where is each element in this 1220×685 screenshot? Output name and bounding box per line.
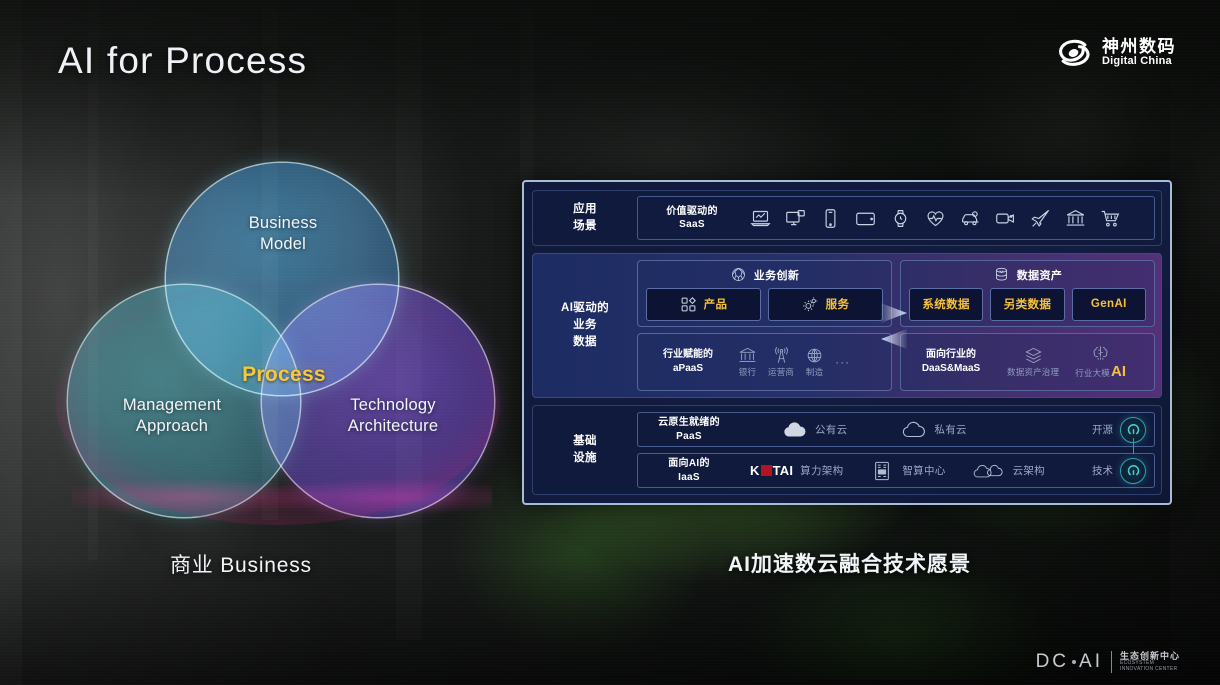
sub-head-label: 数据资产 <box>1017 267 1063 283</box>
footer-divider <box>1111 651 1112 673</box>
panel-row-application-scenarios: 应用 场景 价值驱动的 SaaS <box>532 190 1162 246</box>
venn-diagram: Business Model Management Approach Techn… <box>62 163 462 523</box>
smartwatch-icon <box>890 208 911 229</box>
shopping-cart-icon <box>1100 208 1121 229</box>
architecture-panel: 应用 场景 价值驱动的 SaaS <box>522 180 1172 505</box>
desktop-monitor-icon <box>785 208 806 229</box>
brand-name-en: Digital China <box>1102 56 1176 68</box>
ai-accent-text: AI <box>1111 363 1126 380</box>
venn-label-line: Architecture <box>302 416 484 437</box>
ai-datacenter-icon: AI <box>869 461 895 481</box>
badge-opensource: 开源 <box>1092 417 1146 443</box>
chip-alternative-data[interactable]: 另类数据 <box>990 288 1064 321</box>
item-ai-compute-center: AI 智算中心 <box>869 461 945 481</box>
footer-dot-icon <box>1072 660 1076 664</box>
venn-label-line: Approach <box>82 416 262 437</box>
saas-tag-line: SaaS <box>648 218 736 232</box>
multi-cloud-icon <box>972 461 1006 481</box>
daas-maas-tag-line: DaaS&MaaS <box>909 362 993 376</box>
item-cloud-architecture: 云架构 <box>972 461 1045 481</box>
caption-ai-vision: AI加速数云融合技术愿景 <box>728 548 971 578</box>
grid-blocks-icon <box>680 296 697 313</box>
daas-maas-tag-line: 面向行业的 <box>909 348 993 362</box>
footer-dc-ai-text: DC AI <box>1036 651 1103 673</box>
heartbeat-icon <box>925 208 946 229</box>
car-icon <box>960 208 981 229</box>
row-body-application-scenarios: 价值驱动的 SaaS <box>637 191 1161 245</box>
row-label-line: 基础 <box>573 433 597 450</box>
item-kutai-compute: K TAI 算力架构 <box>750 463 843 478</box>
apaas-industry-items: 银行 运营商 制造 ··· <box>738 346 850 378</box>
slide-root: AI for Process 神州数码 Digital China Busine… <box>0 0 1220 685</box>
feat-row-daas-maas: 面向行业的 DaaS&MaaS 数据资产治理 <box>909 343 1146 380</box>
item-label: 云架构 <box>1013 463 1045 478</box>
chip-label: 另类数据 <box>1004 296 1052 312</box>
kutai-brand-logo: K TAI <box>750 463 793 478</box>
opensource-circle-icon <box>1120 458 1146 484</box>
chip-service[interactable]: 服务 <box>768 288 883 321</box>
feat-data-governance: 数据资产治理 <box>1007 346 1059 378</box>
caption-business: 商业 Business <box>170 549 312 579</box>
footer-ai: AI <box>1079 651 1103 673</box>
venn-label-business-model: Business Model <box>212 213 354 255</box>
chip-product[interactable]: 产品 <box>646 288 761 321</box>
venn-label-process: Process <box>210 363 358 387</box>
sub-head-data-assets: 数据资产 <box>909 266 1146 283</box>
venn-label-line: Model <box>212 234 354 255</box>
footer-logo-dc-ai: DC AI 生态创新中心 ECOSYSTEM INNOVATION CENTER <box>1036 651 1180 673</box>
row-label-application-scenarios: 应用 场景 <box>533 191 637 245</box>
row-label-line: 应用 <box>573 201 597 218</box>
row-label-line: 设施 <box>573 450 597 467</box>
scenario-icon-strip <box>750 208 1121 229</box>
venn-label-line: Technology <box>302 395 484 416</box>
feat-label: 银行 <box>739 366 756 378</box>
item-label: 算力架构 <box>800 463 843 478</box>
chip-label: GenAI <box>1091 298 1127 310</box>
sub-daas-maas: 面向行业的 DaaS&MaaS 数据资产治理 <box>900 333 1155 391</box>
badge-label: 开源 <box>1092 422 1113 437</box>
video-camera-icon <box>995 208 1016 229</box>
feat-more-ellipsis: ··· <box>835 355 850 369</box>
sub-apaas: 行业赋能的 aPaaS 银行 运营商 <box>637 333 892 391</box>
iaas-tag-line: IaaS <box>646 471 732 485</box>
feat-label: 数据资产治理 <box>1007 366 1059 378</box>
half-data-assets: 数据资产 系统数据 另类数据 GenAI <box>900 260 1155 391</box>
item-label: 私有云 <box>934 422 966 437</box>
sub-head-label: 业务创新 <box>754 267 800 283</box>
panel-row-infrastructure: 基础 设施 云原生就绪的 PaaS 公有云 <box>532 405 1162 495</box>
panel-row-ai-driven-business-data: AI驱动的 业务 数据 业务创新 <box>532 253 1162 398</box>
item-public-cloud: 公有云 <box>782 420 847 440</box>
row-body-infrastructure: 云原生就绪的 PaaS 公有云 私有云 开源 <box>637 406 1161 494</box>
polygon-sphere-icon <box>730 266 747 283</box>
iaas-items: K TAI 算力架构 AI 智算中心 云架构 <box>750 461 1092 481</box>
brand-name-cn: 神州数码 <box>1102 38 1176 56</box>
antenna-tower-icon <box>772 346 791 365</box>
kutai-suffix: TAI <box>773 463 794 478</box>
chip-system-data[interactable]: 系统数据 <box>909 288 983 321</box>
chip-label: 服务 <box>826 296 850 312</box>
iaas-tag-line: 面向AI的 <box>646 457 732 471</box>
brain-circuit-icon <box>1091 343 1110 362</box>
gears-icon <box>802 296 819 313</box>
cloud-outline-icon <box>901 420 927 440</box>
feat-label: 行业大模 <box>1075 367 1110 379</box>
apaas-tag-line: 行业赋能的 <box>646 348 730 362</box>
sub-head-business-innovation: 业务创新 <box>646 266 883 283</box>
feat-label: 制造 <box>806 366 823 378</box>
apaas-tag: 行业赋能的 aPaaS <box>646 348 730 375</box>
chip-row-data-assets: 系统数据 另类数据 GenAI <box>909 288 1146 321</box>
venn-label-line: Management <box>82 395 262 416</box>
row-label-line: 业务 <box>561 317 609 334</box>
saas-box[interactable]: 价值驱动的 SaaS <box>637 196 1155 240</box>
paas-tag-line: PaaS <box>646 430 732 444</box>
half-business-innovation: 业务创新 产品 服务 <box>637 260 892 391</box>
chip-label: 系统数据 <box>922 296 970 312</box>
sub-business-innovation: 业务创新 产品 服务 <box>637 260 892 327</box>
cloud-filled-icon <box>782 420 808 440</box>
item-private-cloud: 私有云 <box>901 420 966 440</box>
venn-label-line: Business <box>212 213 354 234</box>
smartphone-icon <box>820 208 841 229</box>
chip-row-business-innovation: 产品 服务 <box>646 288 883 321</box>
row-label-infrastructure: 基础 设施 <box>533 406 637 494</box>
feat-bank: 银行 <box>738 346 757 378</box>
daas-maas-tag: 面向行业的 DaaS&MaaS <box>909 348 993 375</box>
brand-text: 神州数码 Digital China <box>1102 38 1176 67</box>
airplane-icon <box>1030 208 1051 229</box>
venn-label-management-approach: Management Approach <box>82 395 262 437</box>
footer-center-en2: INNOVATION CENTER <box>1120 667 1180 673</box>
page-title: AI for Process <box>58 40 307 82</box>
row-body-ai-driven-business-data: 业务创新 产品 服务 <box>637 254 1161 397</box>
feat-manufacturing: 制造 <box>805 346 824 378</box>
data-layers-icon <box>1024 346 1043 365</box>
gear-globe-icon <box>805 346 824 365</box>
bank-icon <box>1065 208 1086 229</box>
row-label-line: 场景 <box>573 218 597 235</box>
footer-center-name: 生态创新中心 ECOSYSTEM INNOVATION CENTER <box>1120 651 1180 673</box>
bank-icon <box>738 346 757 365</box>
badge-technology: 技术 <box>1092 458 1146 484</box>
tablet-icon <box>855 208 876 229</box>
paas-tag: 云原生就绪的 PaaS <box>646 416 732 443</box>
kutai-prefix: K <box>750 463 760 478</box>
laptop-chart-icon <box>750 208 771 229</box>
chip-genai[interactable]: GenAI <box>1072 288 1146 321</box>
venn-circle-business <box>166 163 398 395</box>
badge-connector-line <box>1133 438 1135 454</box>
bar-ai-oriented-iaas[interactable]: 面向AI的 IaaS K TAI 算力架构 <box>637 453 1155 488</box>
feat-label: 运营商 <box>768 366 794 378</box>
badge-label: 技术 <box>1092 463 1113 478</box>
row-label-ai-driven-business-data: AI驱动的 业务 数据 <box>533 254 637 397</box>
item-label: 公有云 <box>815 422 847 437</box>
svg-text:AI: AI <box>880 469 884 474</box>
database-icon <box>993 266 1010 283</box>
chip-label: 产品 <box>704 296 728 312</box>
venn-label-technology-architecture: Technology Architecture <box>302 395 484 437</box>
item-label: 智算中心 <box>902 463 945 478</box>
sub-data-assets: 数据资产 系统数据 另类数据 GenAI <box>900 260 1155 327</box>
iaas-tag: 面向AI的 IaaS <box>646 457 732 484</box>
saas-tag: 价值驱动的 SaaS <box>648 205 736 232</box>
row-label-line: 数据 <box>561 334 609 351</box>
feat-label-with-ai: 行业大模 AI <box>1075 363 1126 380</box>
feat-row-apaas: 行业赋能的 aPaaS 银行 运营商 <box>646 346 883 378</box>
digital-china-swirl-icon <box>1055 37 1093 69</box>
paas-items: 公有云 私有云 <box>782 420 1092 440</box>
row-label-line: AI驱动的 <box>561 300 609 317</box>
red-square-icon <box>761 465 772 476</box>
saas-tag-line: 价值驱动的 <box>648 205 736 219</box>
feat-industry-large-model: 行业大模 AI <box>1075 343 1126 380</box>
footer-dc: DC <box>1036 651 1069 673</box>
feat-telecom: 运营商 <box>768 346 794 378</box>
paas-tag-line: 云原生就绪的 <box>646 416 732 430</box>
bar-cloud-native-paas[interactable]: 云原生就绪的 PaaS 公有云 私有云 开源 <box>637 412 1155 447</box>
apaas-tag-line: aPaaS <box>646 362 730 376</box>
brand-logo: 神州数码 Digital China <box>1055 37 1176 69</box>
daas-maas-items: 数据资产治理 行业大模 AI <box>1007 343 1126 380</box>
